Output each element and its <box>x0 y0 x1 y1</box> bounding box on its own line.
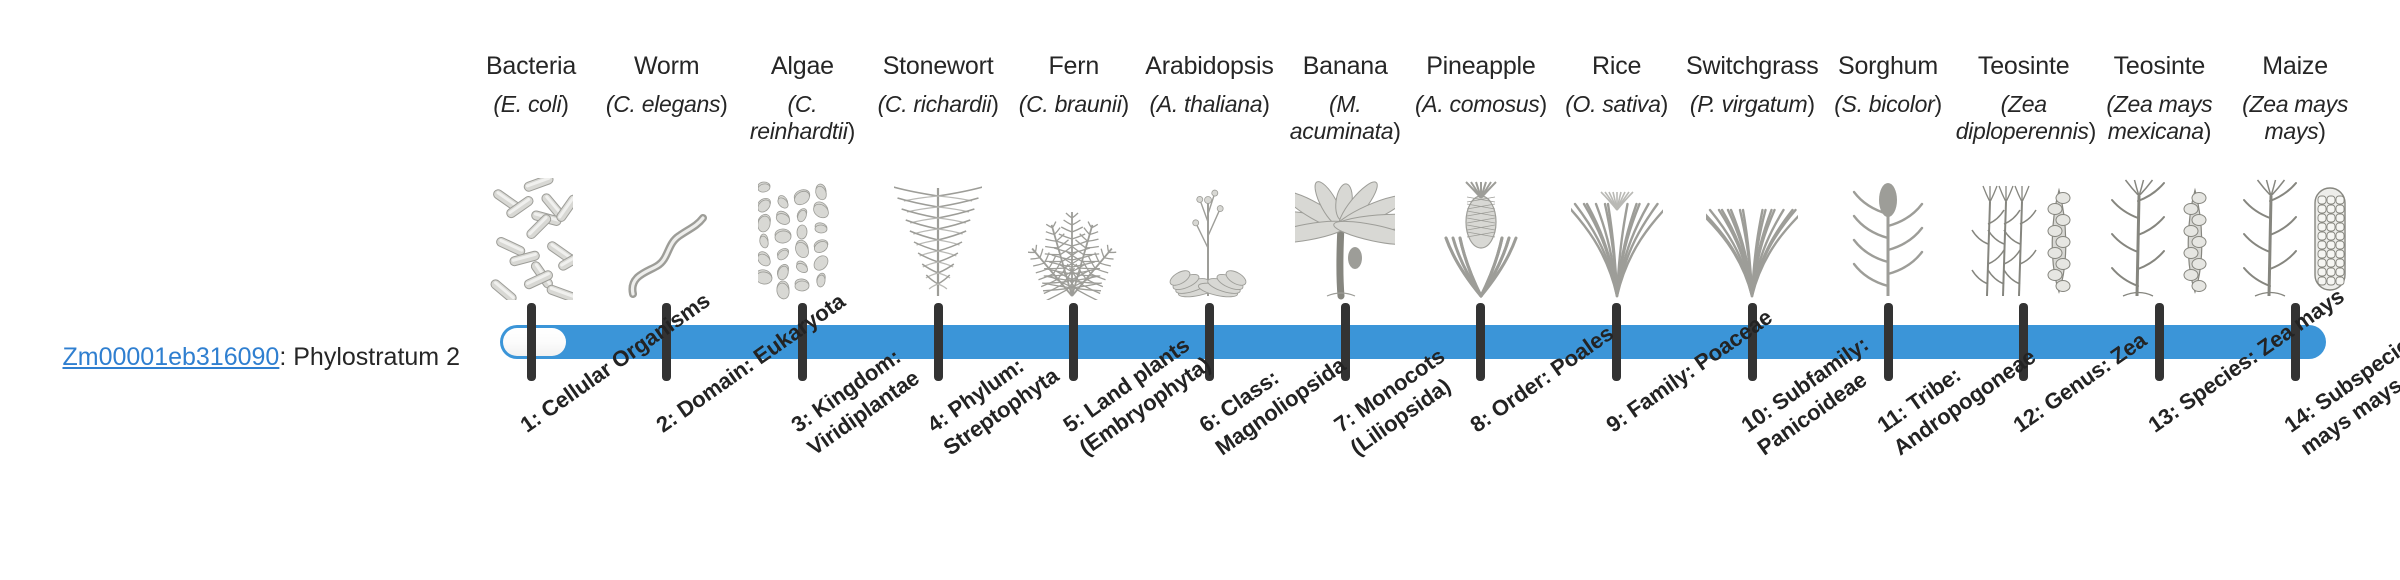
species-scientific-name-text: (S. bicolor <box>1834 91 1934 117</box>
species-scientific-name-text: (P. virgatum <box>1690 91 1807 117</box>
species-scientific-name: (A. comosus) <box>1413 91 1549 118</box>
species-scientific-name-text: (C. braunii <box>1019 91 1122 117</box>
species-column-2: Worm(C. elegans) <box>599 52 735 118</box>
species-common-name: Worm <box>599 52 735 82</box>
species-scientific-name-paren: ) <box>1122 91 1129 117</box>
teosinte-diploperennis-illustration <box>1956 170 2092 300</box>
species-common-name: Rice <box>1549 52 1685 82</box>
species-scientific-name-paren: ) <box>1807 91 1814 117</box>
species-scientific-name-paren: ) <box>1393 118 1400 144</box>
species-common-name: Bacteria <box>463 52 599 82</box>
species-column-10: Switchgrass(P. virgatum) <box>1684 52 1820 118</box>
species-common-name: Pineapple <box>1413 52 1549 82</box>
species-scientific-name-text: (E. coli <box>493 91 561 117</box>
teosinte-mexicana-illustration <box>2091 170 2227 300</box>
nematode-illustration <box>599 170 735 300</box>
gene-label-separator: : <box>279 343 293 371</box>
rank-name: Class: Magnoliopsida <box>1210 352 1349 460</box>
species-scientific-name-paren: ) <box>2318 118 2325 144</box>
species-scientific-name-paren: ) <box>2204 118 2211 144</box>
pineapple-illustration <box>1413 170 1549 300</box>
species-scientific-name-paren: ) <box>848 118 855 144</box>
species-common-name: Banana <box>1277 52 1413 82</box>
species-column-14: Maize(Zea mays mays) <box>2227 52 2363 145</box>
species-column-12: Teosinte(Zea diploperennis) <box>1956 52 2092 145</box>
species-common-name: Sorghum <box>1820 52 1956 82</box>
species-scientific-name-text: (O. sativa <box>1565 91 1660 117</box>
species-scientific-name: (S. bicolor) <box>1820 91 1956 118</box>
species-common-name: Maize <box>2227 52 2363 82</box>
species-scientific-name-text: (A. comosus <box>1415 91 1540 117</box>
maize-illustration <box>2227 170 2363 300</box>
species-common-name: Teosinte <box>1956 52 2092 82</box>
species-scientific-name-text: (M. acuminata <box>1290 91 1393 144</box>
species-scientific-name: (C. richardii) <box>870 91 1006 118</box>
bacteria-illustration <box>463 170 599 300</box>
species-scientific-name-text: (Zea mays mexicana <box>2106 91 2212 144</box>
species-common-name: Stonewort <box>870 52 1006 82</box>
switchgrass-illustration <box>1684 170 1820 300</box>
species-scientific-name-paren: ) <box>1661 91 1668 117</box>
phylostratum-value-text: Phylostratum 2 <box>293 343 460 371</box>
species-scientific-name: (P. virgatum) <box>1684 91 1820 118</box>
species-scientific-name-text: (C. reinhardtii <box>750 91 848 144</box>
species-scientific-name-text: (C. richardii <box>878 91 992 117</box>
species-scientific-name: (Zea mays mexicana) <box>2091 91 2227 145</box>
species-column-5: Fern(C. braunii) <box>1006 52 1142 118</box>
species-common-name: Arabidopsis <box>1142 52 1278 82</box>
species-column-1: Bacteria(E. coli) <box>463 52 599 118</box>
rice-illustration <box>1549 170 1685 300</box>
species-scientific-name-paren: ) <box>720 91 727 117</box>
species-column-9: Rice(O. sativa) <box>1549 52 1685 118</box>
species-column-11: Sorghum(S. bicolor) <box>1820 52 1956 118</box>
species-scientific-name-paren: ) <box>1262 91 1269 117</box>
species-common-name: Switchgrass <box>1684 52 1820 82</box>
rank-name: Kingdom: Viridiplantae <box>803 344 924 461</box>
species-column-6: Arabidopsis(A. thaliana) <box>1142 52 1278 118</box>
species-common-name: Teosinte <box>2091 52 2227 82</box>
sorghum-illustration <box>1820 170 1956 300</box>
species-scientific-name-text: (Zea mays mays <box>2242 91 2348 144</box>
species-scientific-name-paren: ) <box>1539 91 1546 117</box>
species-scientific-name: (C. elegans) <box>599 91 735 118</box>
species-scientific-name: (C. braunii) <box>1006 91 1142 118</box>
species-scientific-name: (C. reinhardtii) <box>734 91 870 145</box>
gene-phylostratum-label: Zm00001eb316090: Phylostratum 2 <box>40 342 460 372</box>
gene-id-link[interactable]: Zm00001eb316090 <box>62 343 279 371</box>
phylostratum-figure: Zm00001eb316090: Phylostratum 2 Bacteria… <box>0 0 2400 580</box>
phylostratum-tick-1[interactable] <box>527 303 536 381</box>
species-scientific-name-text: (C. elegans <box>606 91 720 117</box>
species-scientific-name-text: (A. thaliana <box>1149 91 1262 117</box>
species-column-7: Banana(M. acuminata) <box>1277 52 1413 145</box>
species-scientific-name: (Zea diploperennis) <box>1956 91 2092 145</box>
species-scientific-name: (O. sativa) <box>1549 91 1685 118</box>
rank-number: 13: <box>2144 399 2184 438</box>
rank-number: 12: <box>2008 399 2048 438</box>
stonewort-illustration <box>870 170 1006 300</box>
species-scientific-name-paren: ) <box>561 91 568 117</box>
species-column-8: Pineapple(A. comosus) <box>1413 52 1549 118</box>
species-scientific-name: (M. acuminata) <box>1277 91 1413 145</box>
species-scientific-name: (E. coli) <box>463 91 599 118</box>
species-column-3: Algae(C. reinhardtii) <box>734 52 870 145</box>
species-column-4: Stonewort(C. richardii) <box>870 52 1006 118</box>
rank-name: Phylum: Streptophyta <box>939 353 1064 460</box>
species-scientific-name: (Zea mays mays) <box>2227 91 2363 145</box>
species-scientific-name-paren: ) <box>1934 91 1941 117</box>
species-scientific-name-text: (Zea diploperennis <box>1956 91 2089 144</box>
species-scientific-name: (A. thaliana) <box>1142 91 1278 118</box>
species-common-name: Fern <box>1006 52 1142 82</box>
species-column-13: Teosinte(Zea mays mexicana) <box>2091 52 2227 145</box>
species-common-name: Algae <box>734 52 870 82</box>
algae-illustration <box>734 170 870 300</box>
arabidopsis-illustration <box>1142 170 1278 300</box>
fern-illustration <box>1006 170 1142 300</box>
species-scientific-name-paren: ) <box>991 91 998 117</box>
